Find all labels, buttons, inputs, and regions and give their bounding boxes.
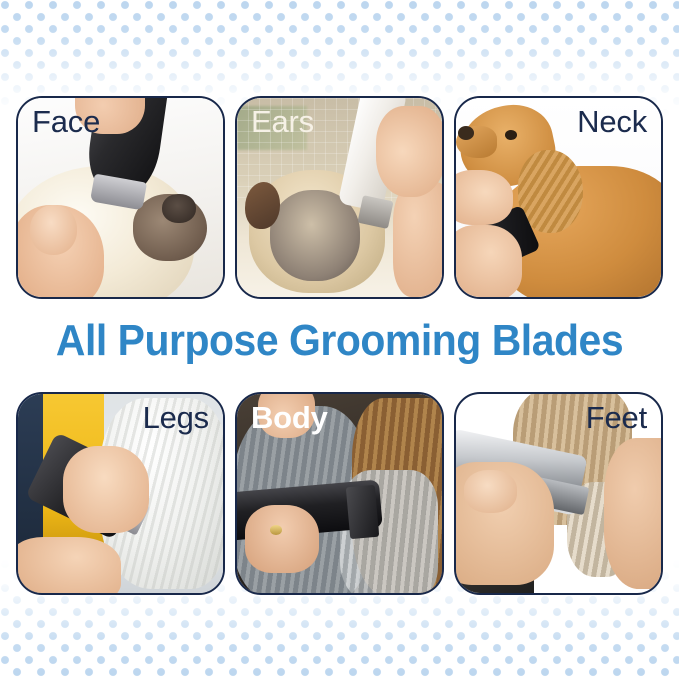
card-ears: Ears bbox=[235, 96, 444, 299]
card-neck: Neck bbox=[454, 96, 663, 299]
card-row-top: Face Ears bbox=[16, 96, 663, 299]
card-label-ears: Ears bbox=[251, 106, 314, 139]
card-row-bottom: Legs Body bbox=[16, 392, 663, 595]
card-body: Body bbox=[235, 392, 444, 595]
grooming-blades-infographic: Face Ears bbox=[0, 0, 679, 679]
page-headline: All Purpose Grooming Blades bbox=[24, 314, 655, 368]
card-label-legs: Legs bbox=[143, 402, 209, 435]
card-feet: Feet bbox=[454, 392, 663, 595]
card-label-body: Body bbox=[251, 402, 328, 435]
card-label-neck: Neck bbox=[577, 106, 647, 139]
card-face: Face bbox=[16, 96, 225, 299]
card-label-face: Face bbox=[32, 106, 100, 139]
card-label-feet: Feet bbox=[586, 402, 647, 435]
card-legs: Legs bbox=[16, 392, 225, 595]
